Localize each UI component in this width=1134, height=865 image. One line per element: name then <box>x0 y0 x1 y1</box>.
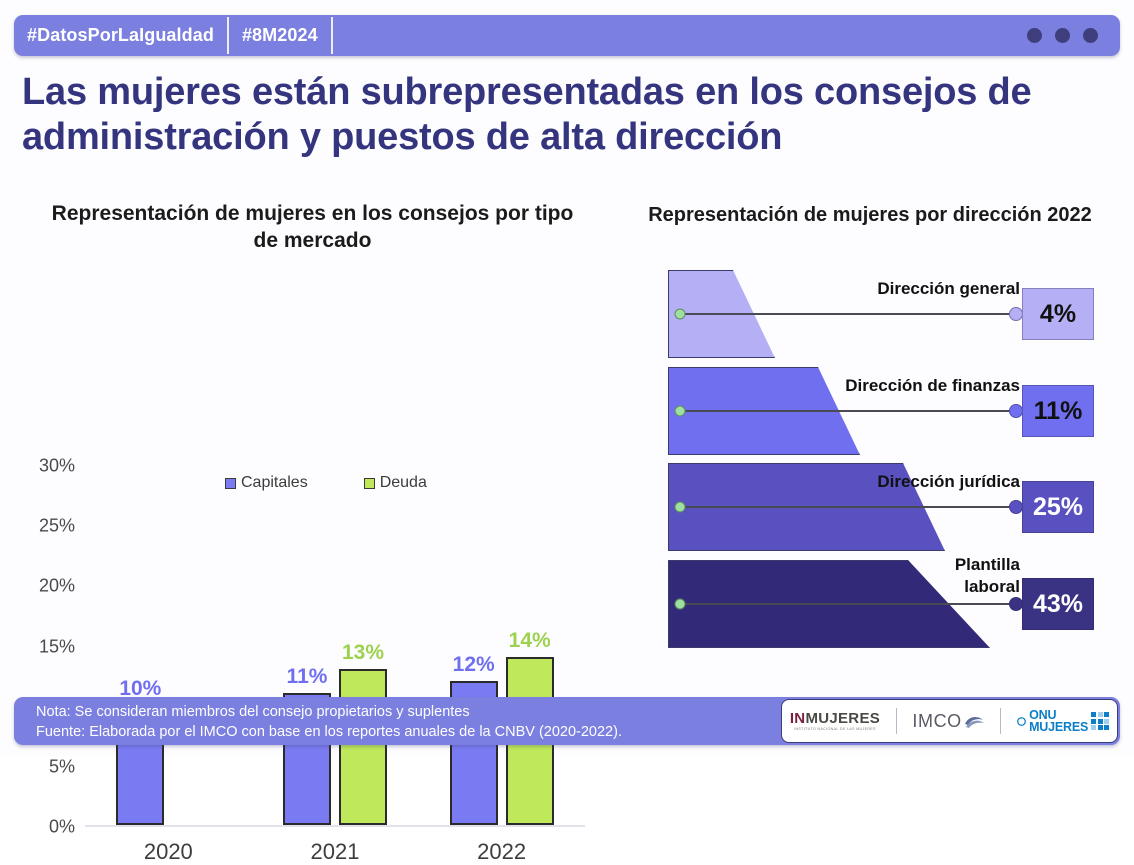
bar-group: 12%14%2022 <box>418 464 585 825</box>
funnel-value-box-4: 43% <box>1022 578 1094 630</box>
bar-value-label: 11% <box>287 665 328 689</box>
onu-logo-text: ONU MUJERES <box>1029 709 1088 734</box>
funnel-connector-line <box>680 410 1016 412</box>
onu-grid-icon <box>1091 712 1109 730</box>
bar-group: 10%2020 <box>85 464 252 825</box>
onu-grid-cell <box>1091 712 1096 717</box>
onu-grid-cell <box>1098 712 1103 717</box>
hashtag-bar: #DatosPorLaIgualdad #8M2024 <box>14 15 1120 56</box>
funnel-label-4: Plantillalaboral <box>955 554 1020 598</box>
x-axis-tick-label: 2021 <box>311 839 360 865</box>
funnel-chart-panel: Representación de mujeres por dirección … <box>612 196 1128 666</box>
bar-wrapper <box>172 464 220 825</box>
funnel-label-line: laboral <box>955 576 1020 598</box>
funnel-start-dot-icon <box>675 406 686 417</box>
funnel-connector-line <box>680 313 1016 315</box>
funnel-row: Plantillalaboral43% <box>612 560 1128 648</box>
inmujeres-logo-mujeres: MUJERES <box>805 710 880 727</box>
y-axis-tick-label: 20% <box>39 576 75 597</box>
funnel-end-dot-icon <box>1009 500 1023 514</box>
imco-logo: IMCO <box>912 711 984 732</box>
funnel-chart-title: Representación de mujeres por dirección … <box>612 204 1128 227</box>
onu-grid-cell <box>1098 725 1103 730</box>
funnel-label-1: Dirección general <box>877 278 1020 300</box>
bar-chart-title: Representación de mujeres en los consejo… <box>40 200 585 254</box>
y-axis-tick-label: 30% <box>39 456 75 477</box>
funnel-end-dot-icon <box>1009 597 1023 611</box>
bar-wrapper: 12% <box>450 464 498 825</box>
y-axis-tick-label: 0% <box>49 817 75 838</box>
logo-strip: INMUJERES INSTITUTO NACIONAL DE LAS MUJE… <box>781 699 1118 743</box>
onu-grid-cell <box>1091 725 1096 730</box>
funnel-value-box-1: 4% <box>1022 288 1094 340</box>
footer-bar: Nota: Se consideran miembros del consejo… <box>14 697 1120 745</box>
onu-grid-cell <box>1104 719 1109 724</box>
funnel-row: Dirección de finanzas11% <box>612 367 1128 455</box>
logo-separator-1 <box>896 708 897 734</box>
funnel-start-dot-icon <box>675 599 686 610</box>
y-axis-tick-label: 15% <box>39 636 75 657</box>
bar-wrapper: 11% <box>283 464 331 825</box>
funnel-row: Dirección general4% <box>612 270 1128 358</box>
bar-wrapper: 13% <box>339 464 387 825</box>
footer-note-line-1: Nota: Se consideran miembros del consejo… <box>36 702 622 722</box>
hashtag-spacer <box>333 15 1027 56</box>
funnel-label-3: Dirección jurídica <box>877 471 1020 493</box>
bar-wrapper: 10% <box>116 464 164 825</box>
page-title: Las mujeres están subrepresentadas en lo… <box>22 70 1112 160</box>
funnel-end-dot-icon <box>1009 404 1023 418</box>
footer-note-line-2: Fuente: Elaborada por el IMCO con base e… <box>36 722 622 742</box>
x-axis-tick-label: 2020 <box>144 839 193 865</box>
imco-logo-wordmark: IMCO <box>912 711 961 732</box>
header-dots-group <box>1027 15 1120 56</box>
bar-chart-plot-area: 0%5%10%15%20%25%30% 10%202011%13%202112%… <box>85 466 585 827</box>
footer-note: Nota: Se consideran miembros del consejo… <box>36 702 622 742</box>
onu-grid-cell <box>1104 712 1109 717</box>
onu-mujeres-logo: ONU MUJERES <box>1017 709 1109 734</box>
header-dot-2 <box>1055 28 1070 43</box>
bar-value-label: 14% <box>509 629 551 653</box>
funnel-value-box-2: 11% <box>1022 385 1094 437</box>
funnel-label-line: Plantilla <box>955 554 1020 576</box>
inmujeres-logo-in: IN <box>790 710 806 727</box>
logo-separator-2 <box>1000 708 1001 734</box>
y-axis-tick-label: 5% <box>49 756 75 777</box>
hashtag-8m2024: #8M2024 <box>229 15 331 56</box>
inmujeres-logo-wordmark: INMUJERES <box>790 711 880 726</box>
onu-logo-line-2: MUJERES <box>1029 721 1088 734</box>
header-dot-1 <box>1027 28 1042 43</box>
x-axis-tick-label: 2022 <box>477 839 526 865</box>
hashtag-datospor: #DatosPorLaIgualdad <box>14 15 227 56</box>
onu-grid-cell <box>1098 719 1103 724</box>
bar-wrapper: 14% <box>506 464 554 825</box>
funnel-label-2: Dirección de finanzas <box>845 375 1020 397</box>
onu-grid-cell <box>1104 725 1109 730</box>
funnel-connector-line <box>680 506 1016 508</box>
inmujeres-logo-subtitle: INSTITUTO NACIONAL DE LAS MUJERES <box>790 728 880 732</box>
funnel-start-dot-icon <box>675 309 686 320</box>
header-dot-3 <box>1083 28 1098 43</box>
funnel-start-dot-icon <box>675 502 686 513</box>
funnel-value-box-3: 25% <box>1022 481 1094 533</box>
y-axis-tick-label: 25% <box>39 516 75 537</box>
bar-value-label: 12% <box>453 653 495 677</box>
bar-chart-panel: Representación de mujeres en los consejo… <box>10 196 610 686</box>
imco-swirl-icon <box>963 712 985 730</box>
onu-grid-cell <box>1091 719 1096 724</box>
bar-deuda-2021 <box>339 669 387 825</box>
funnel-row: Dirección jurídica25% <box>612 463 1128 551</box>
funnel-connector-line <box>680 603 1016 605</box>
bar-value-label: 13% <box>342 641 384 665</box>
inmujeres-logo: INMUJERES INSTITUTO NACIONAL DE LAS MUJE… <box>790 711 880 732</box>
onu-globe-icon <box>1017 717 1026 726</box>
funnel-end-dot-icon <box>1009 307 1023 321</box>
bar-group: 11%13%2021 <box>252 464 419 825</box>
x-axis-line <box>85 825 585 827</box>
